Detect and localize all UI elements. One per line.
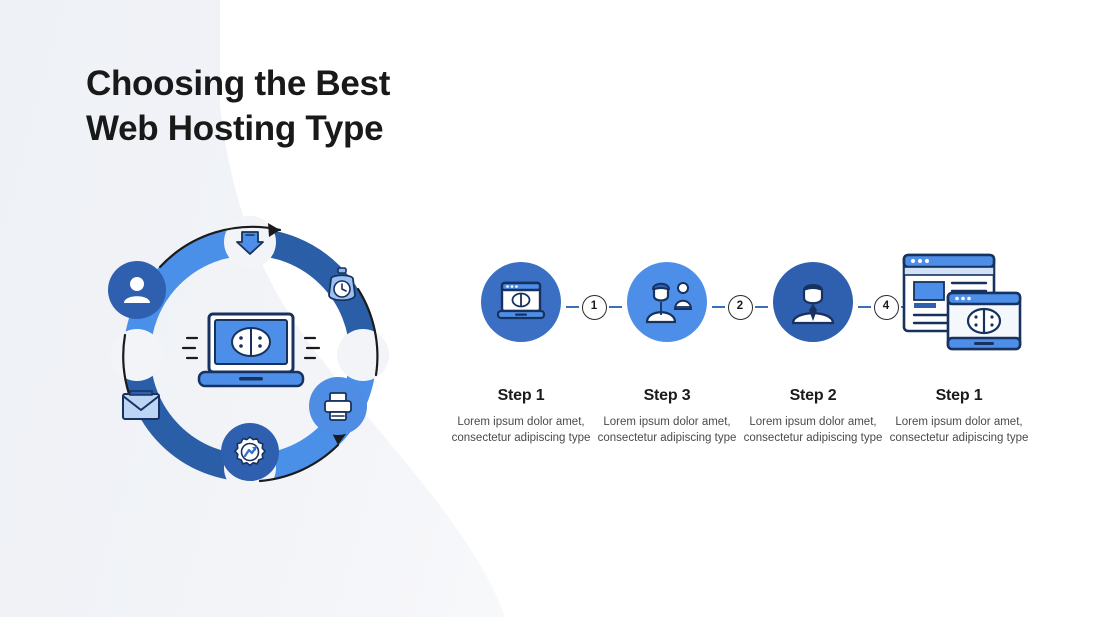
- step-1-title: Step 1: [448, 387, 594, 405]
- step-4-title: Step 1: [886, 387, 1032, 405]
- business-person-icon: [773, 262, 853, 342]
- upload-arrow-icon: [221, 213, 279, 271]
- step-3-description: Lorem ipsum dolor amet, consectetur adip…: [740, 414, 886, 447]
- support-agent-icon: [627, 262, 707, 342]
- step-item-4[interactable]: Step 1 Lorem ipsum dolor amet, consectet…: [886, 252, 1032, 447]
- user-icon: [108, 261, 166, 319]
- infographic-slide: Choosing the Best Web Hosting Type: [0, 0, 1100, 617]
- connector-2-line-left: [712, 306, 725, 308]
- laptop-server-icon: [178, 297, 323, 407]
- step-4-description: Lorem ipsum dolor amet, consectetur adip…: [886, 414, 1032, 447]
- gear-speed-icon: [221, 423, 279, 481]
- step-4-icon-wrap: [886, 252, 1032, 352]
- envelope-icon: [112, 377, 170, 435]
- step-item-3[interactable]: Step 2 Lorem ipsum dolor amet, consectet…: [740, 252, 886, 447]
- page-title: Choosing the Best Web Hosting Type: [86, 62, 606, 152]
- page-title-line-1: Choosing the Best: [86, 62, 606, 107]
- step-1-description: Lorem ipsum dolor amet, consectetur adip…: [448, 414, 594, 447]
- step-3-title: Step 2: [740, 387, 886, 405]
- page-title-line-2: Web Hosting Type: [86, 107, 606, 152]
- web-hosting-cycle-diagram: [100, 205, 400, 505]
- step-item-2[interactable]: Step 3 Lorem ipsum dolor amet, consectet…: [594, 252, 740, 447]
- steps-row: Step 1 Lorem ipsum dolor amet, consectet…: [448, 252, 1048, 492]
- connector-1-line-left: [566, 306, 579, 308]
- connector-3-line-left: [858, 306, 871, 308]
- step-2-description: Lorem ipsum dolor amet, consectetur adip…: [594, 414, 740, 447]
- website-windows-icon: [889, 252, 1029, 352]
- browser-window-icon: [481, 262, 561, 342]
- step-2-title: Step 3: [594, 387, 740, 405]
- step-item-1[interactable]: Step 1 Lorem ipsum dolor amet, consectet…: [448, 252, 594, 447]
